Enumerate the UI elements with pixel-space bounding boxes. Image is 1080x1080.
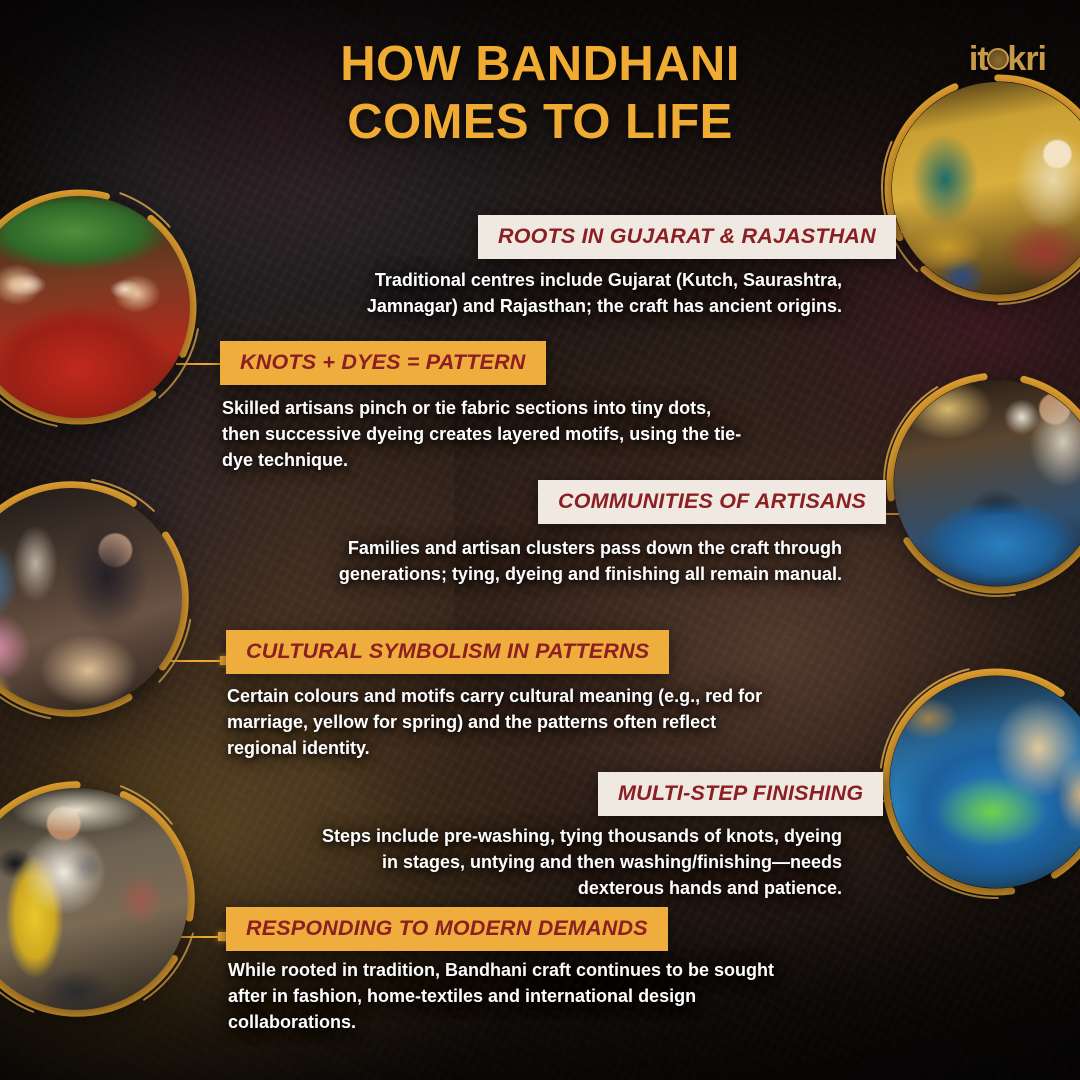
section-body-multi-step-finishing: Steps include pre-washing, tying thousan…: [318, 824, 842, 902]
title-line-1: HOW BANDHANI: [0, 36, 1080, 94]
photo-image: [890, 676, 1080, 888]
photo-disc: [0, 196, 190, 418]
logo-text-b: kri: [1007, 40, 1046, 78]
section-heading-multi-step-finishing: MULTI-STEP FINISHING: [598, 772, 883, 816]
infographic-canvas: HOW BANDHANI COMES TO LIFE itokri: [0, 0, 1080, 1080]
photo-disc: [890, 676, 1080, 888]
title-line-2: COMES TO LIFE: [0, 94, 1080, 152]
photo-disc: [0, 788, 188, 1010]
photo-disc: [894, 380, 1080, 586]
photo-image: [0, 788, 188, 1010]
photo-artisan-dyeing-gloves: [894, 380, 1080, 586]
photo-hands-knotting-red-fabric: [0, 196, 190, 418]
section-heading-knots-dyes-pattern: KNOTS + DYES = PATTERN: [220, 341, 546, 385]
section-heading-responding-to-modern-demands: RESPONDING TO MODERN DEMANDS: [226, 907, 668, 951]
logo-text-a: it: [969, 40, 988, 78]
photo-image: [894, 380, 1080, 586]
logo-o-mark: o: [988, 40, 1008, 79]
photo-image: [0, 196, 190, 418]
page-title: HOW BANDHANI COMES TO LIFE: [0, 36, 1080, 152]
section-body-cultural-symbolism-in-patterns: Certain colours and motifs carry cultura…: [227, 684, 767, 762]
photo-fabric-in-dye-vat: [890, 676, 1080, 888]
section-body-roots-in-gujarat-rajasthan: Traditional centres include Gujarat (Kut…: [282, 268, 842, 320]
brand-logo-itokri[interactable]: itokri: [969, 40, 1046, 79]
photo-disc: [0, 488, 182, 710]
section-body-communities-of-artisans: Families and artisan clusters pass down …: [248, 536, 842, 588]
section-body-responding-to-modern-demands: While rooted in tradition, Bandhani craf…: [228, 958, 780, 1036]
photo-image: [0, 488, 182, 710]
photo-artisan-yellow-fabric: [0, 788, 188, 1010]
section-heading-communities-of-artisans: COMMUNITIES OF ARTISANS: [538, 480, 886, 524]
photo-woman-tying-bundle: [0, 488, 182, 710]
section-body-knots-dyes-pattern: Skilled artisans pinch or tie fabric sec…: [222, 396, 747, 474]
section-heading-roots-in-gujarat-rajasthan: ROOTS IN GUJARAT & RAJASTHAN: [478, 215, 896, 259]
logo-circle-icon: [987, 48, 1009, 70]
section-heading-cultural-symbolism-in-patterns: CULTURAL SYMBOLISM IN PATTERNS: [226, 630, 669, 674]
